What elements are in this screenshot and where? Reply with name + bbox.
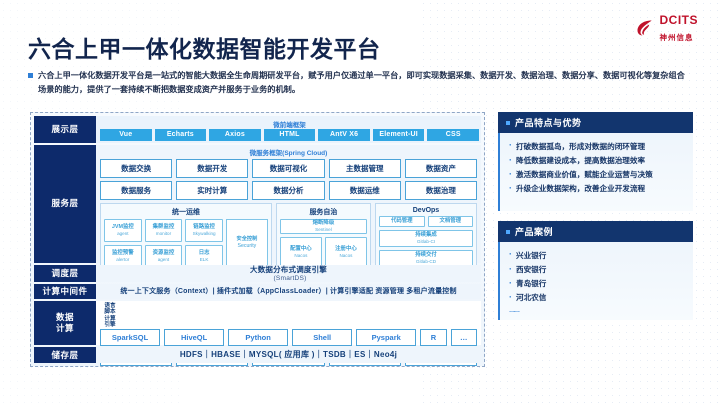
side-tag-engine-l1: 计算 xyxy=(104,316,115,322)
panel-title: 服务自治 xyxy=(280,206,367,220)
compute-side-tags: 语言 脚本 计算 引擎 xyxy=(100,303,120,329)
layer-storage: 储存层 HDFS｜HBASE｜MYSQL( 应用库 )｜TSDB｜ES｜Neo4… xyxy=(34,347,481,363)
ops-chip[interactable]: 集群监控 monitor xyxy=(145,219,183,241)
chip-label-en: Security xyxy=(238,243,257,250)
service-function[interactable]: 数据分析 xyxy=(252,181,324,200)
chip-label-en: Sentinel xyxy=(315,227,332,233)
compute-label-line1: 数据 xyxy=(56,312,74,322)
autonomy-chip[interactable]: 配置中心 Nacos xyxy=(280,237,322,267)
header-square-icon xyxy=(506,121,510,125)
card-advantages: 产品特点与优势 打破数据孤岛，形成对数据的闭环管理 降低数据建设成本，提高数据治… xyxy=(498,112,693,211)
service-function-grid: 数据交换 数据开发 数据可视化 主数据管理 数据资产 数据服务 实时计算 数据分… xyxy=(100,159,477,200)
panel-service-autonomy: 服务自治 熔断降级 Sentinel 配置中心 Nacos xyxy=(276,203,371,271)
layer-label-display: 展示层 xyxy=(34,116,96,143)
tech-tag[interactable]: Element-UI xyxy=(373,129,425,141)
layer-display: 展示层 微前端框架 Vue Echarts Axios HTML AntV X6… xyxy=(34,116,481,143)
architecture-diagram: 展示层 微前端框架 Vue Echarts Axios HTML AntV X6… xyxy=(30,112,485,367)
chip-label-cn: 注册中心 xyxy=(335,246,357,253)
case-item: 青岛银行 xyxy=(508,277,685,291)
chip-label-cn: 持续交付 xyxy=(415,252,437,259)
panel-devops: DevOps 代码管理 文档管理 xyxy=(375,203,477,271)
service-function[interactable]: 数据运维 xyxy=(329,181,401,200)
chip-label-cn: 文档管理 xyxy=(439,218,461,225)
side-tag-language-l2: 脚本 xyxy=(104,309,115,315)
storage-items: HDFS｜HBASE｜MYSQL( 应用库 )｜TSDB｜ES｜Neo4j xyxy=(96,347,481,363)
tech-tag[interactable]: HTML xyxy=(264,129,316,141)
bullet-square-icon xyxy=(28,73,33,78)
language-cell[interactable]: R xyxy=(420,329,446,346)
ops-chip[interactable]: 链路监控 Skywalking xyxy=(185,219,223,241)
language-cell[interactable]: Python xyxy=(228,329,288,346)
devops-chip[interactable]: 代码管理 xyxy=(379,216,425,227)
microservice-framework-note: 微服务框架(Spring Cloud) xyxy=(100,146,477,159)
micro-frontend-note: 微前端框架 xyxy=(100,117,479,129)
compute-label-line2: 计算 xyxy=(56,323,74,333)
chip-label-cn: 配置中心 xyxy=(290,246,312,253)
ops-chip[interactable]: JVM监控 agent xyxy=(104,219,142,241)
chip-label-en: monitor xyxy=(156,231,171,237)
advantage-item: 升级企业数据架构，改善企业开发流程 xyxy=(508,182,685,196)
sidebar: 产品特点与优势 打破数据孤岛，形成对数据的闭环管理 降低数据建设成本，提高数据治… xyxy=(498,112,693,330)
layer-label-storage: 储存层 xyxy=(34,347,96,363)
advantage-item: 降低数据建设成本，提高数据治理效率 xyxy=(508,153,685,167)
logo-text-en: DCITS xyxy=(660,13,699,27)
advantage-item: 激活数据商业价值，赋能企业运营与决策 xyxy=(508,168,685,182)
chip-label-cn: JVM监控 xyxy=(112,224,134,231)
devops-chip-ci[interactable]: 持续集成 Gitlab-CI xyxy=(379,230,473,247)
chip-label-cn: 监控预警 xyxy=(112,250,134,257)
chip-label-en: Gitlab-CI xyxy=(417,239,435,245)
case-item: 西安银行 xyxy=(508,262,685,276)
card-cases: 产品案例 兴业银行 西安银行 青岛银行 河北农信 xyxy=(498,221,693,320)
chip-label-en: ELK xyxy=(200,257,209,263)
header-square-icon xyxy=(506,230,510,234)
tech-tag[interactable]: CSS xyxy=(427,129,479,141)
chip-label-cn: 日志 xyxy=(199,250,210,257)
panel-unified-ops: 统一运维 JVM监控 agent 集群监控 monitor xyxy=(100,203,272,271)
service-function[interactable]: 数据资产 xyxy=(405,159,477,178)
advantage-item: 打破数据孤岛，形成对数据的闭环管理 xyxy=(508,139,685,153)
case-item: 河北农信 xyxy=(508,291,685,305)
panel-title: DevOps xyxy=(379,206,473,217)
layer-schedule: 调度层 大数据分布式调度引擎 (SmartDS) xyxy=(34,265,481,282)
devops-chip[interactable]: 文档管理 xyxy=(428,216,474,227)
schedule-engine-en: (SmartDS) xyxy=(274,275,307,282)
tech-tag[interactable]: AntV X6 xyxy=(318,129,370,141)
layer-middleware: 计算中间件 统一上下文服务（Context）| 插件式加载（AppClassLo… xyxy=(34,284,481,299)
chip-label-cn: 代码管理 xyxy=(391,218,413,225)
service-function[interactable]: 主数据管理 xyxy=(329,159,401,178)
chip-label-en: Gitlab-CD xyxy=(416,259,436,265)
service-function[interactable]: 数据开发 xyxy=(176,159,248,178)
chip-label-en: Nacos xyxy=(339,253,352,259)
service-function[interactable]: 数据服务 xyxy=(100,181,172,200)
chip-label-en: alertor xyxy=(116,257,129,263)
autonomy-chip-circuit-breaker[interactable]: 熔断降级 Sentinel xyxy=(280,219,367,234)
display-tech-tags: Vue Echarts Axios HTML AntV X6 Element-U… xyxy=(100,129,479,141)
page-subtitle: 六合上甲一体化数据开发平台是一站式的智能大数据全生命周期研发平台，赋予用户仅通过… xyxy=(28,69,688,98)
logo-text-cn: 神州信息 xyxy=(660,33,694,42)
chip-label-cn: 安全控制 xyxy=(237,236,258,243)
tech-tag[interactable]: Vue xyxy=(100,129,152,141)
layer-label-compute: 数据 计算 xyxy=(34,301,96,345)
service-function[interactable]: 数据交换 xyxy=(100,159,172,178)
card-header: 产品案例 xyxy=(498,221,693,242)
chip-label-en: agent xyxy=(158,257,170,263)
schedule-engine-cn: 大数据分布式调度引擎 xyxy=(250,264,327,275)
layer-label-schedule: 调度层 xyxy=(34,265,96,282)
chip-label-en: agent xyxy=(117,231,129,237)
service-function[interactable]: 实时计算 xyxy=(176,181,248,200)
card-title: 产品案例 xyxy=(515,225,553,238)
language-cell[interactable]: Pyspark xyxy=(356,329,416,346)
ops-chip-security[interactable]: 安全控制 Security xyxy=(226,219,268,267)
tech-tag[interactable]: Echarts xyxy=(155,129,207,141)
chip-label-cn: 资源监控 xyxy=(153,250,175,257)
layer-service: 服务层 微服务框架(Spring Cloud) 数据交换 数据开发 数据可视化 … xyxy=(34,145,481,263)
card-header: 产品特点与优势 xyxy=(498,112,693,133)
chip-label-cn: 持续集成 xyxy=(415,232,437,239)
middleware-text: 统一上下文服务（Context）| 插件式加载（AppClassLoader）|… xyxy=(120,286,456,296)
layer-label-middleware: 计算中间件 xyxy=(34,284,96,299)
page-subtitle-text: 六合上甲一体化数据开发平台是一站式的智能大数据全生命周期研发平台，赋予用户仅通过… xyxy=(38,69,688,98)
brand-logo: DCITS 神州信息 xyxy=(635,12,699,44)
case-item-more xyxy=(508,305,685,310)
service-function[interactable]: 数据治理 xyxy=(405,181,477,200)
language-cell[interactable]: HiveQL xyxy=(164,329,224,346)
tech-tag[interactable]: Axios xyxy=(209,129,261,141)
slide-root: DCITS 神州信息 六合上甲一体化数据智能开发平台 六合上甲一体化数据开发平台… xyxy=(0,0,720,405)
case-item: 兴业银行 xyxy=(508,248,685,262)
chip-label-cn: 熔断降级 xyxy=(313,220,335,227)
layer-compute: 数据 计算 语言 脚本 计算 引擎 xyxy=(34,301,481,345)
chip-label-en: Nacos xyxy=(294,253,307,259)
chip-label-cn: 集群监控 xyxy=(153,224,175,231)
service-function[interactable]: 数据可视化 xyxy=(252,159,324,178)
chip-label-en: Skywalking xyxy=(193,231,216,237)
chip-label-cn: 链路监控 xyxy=(193,224,215,231)
page-title: 六合上甲一体化数据智能开发平台 xyxy=(28,30,381,64)
side-tag-engine-l2: 引擎 xyxy=(104,322,115,328)
language-cell[interactable]: Shell xyxy=(292,329,352,346)
layer-label-service: 服务层 xyxy=(34,145,96,263)
card-title: 产品特点与优势 xyxy=(515,116,582,129)
language-cell-more[interactable]: … xyxy=(451,329,477,346)
language-cell[interactable]: SparkSQL xyxy=(100,329,160,346)
panel-title: 统一运维 xyxy=(104,206,268,220)
dcits-swoosh-icon xyxy=(635,18,655,38)
autonomy-chip[interactable]: 注册中心 Nacos xyxy=(325,237,367,267)
language-script-row: SparkSQL HiveQL Python Shell Pyspark R … xyxy=(100,329,477,346)
